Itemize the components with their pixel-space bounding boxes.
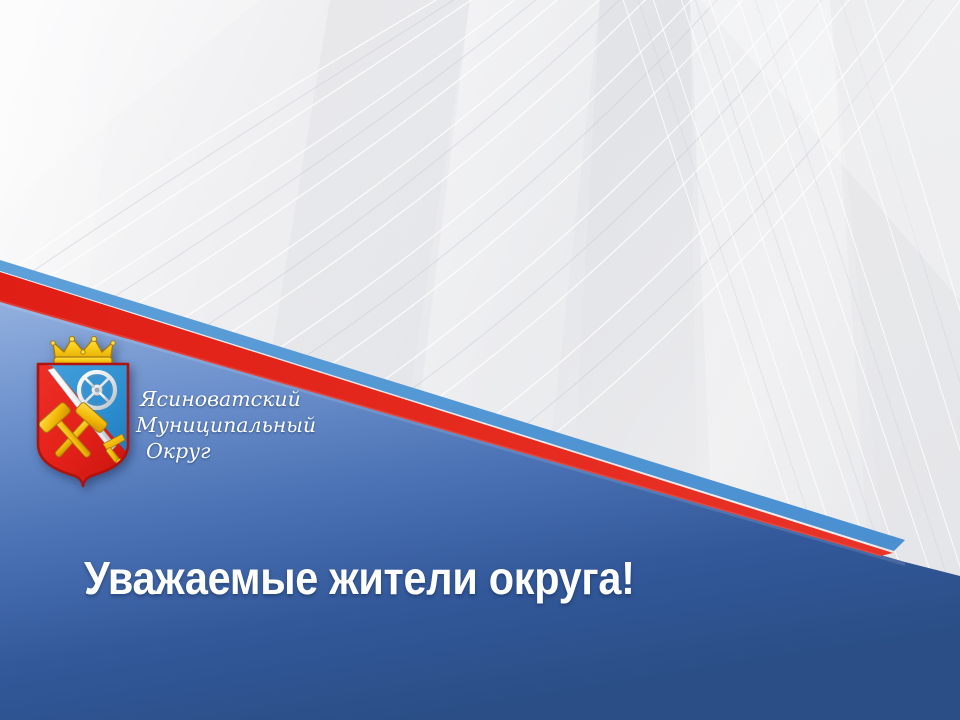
emblem-wordmark-line-1: Ясиноватский [134,386,349,412]
crown-icon [51,336,115,365]
page-title: Уважаемые жители округа! [84,552,635,604]
banner-canvas: Ясиноватский Муниципальный Округ Уважаем… [0,0,960,720]
emblem-wordmark-line-3: Округ [134,438,349,464]
emblem-block: Ясиноватский Муниципальный Округ [18,336,348,512]
coat-of-arms-icon [24,336,142,506]
emblem-wordmark: Ясиноватский Муниципальный Округ [134,386,349,464]
shield-body [34,360,134,492]
emblem-wordmark-line-2: Муниципальный [134,412,349,438]
